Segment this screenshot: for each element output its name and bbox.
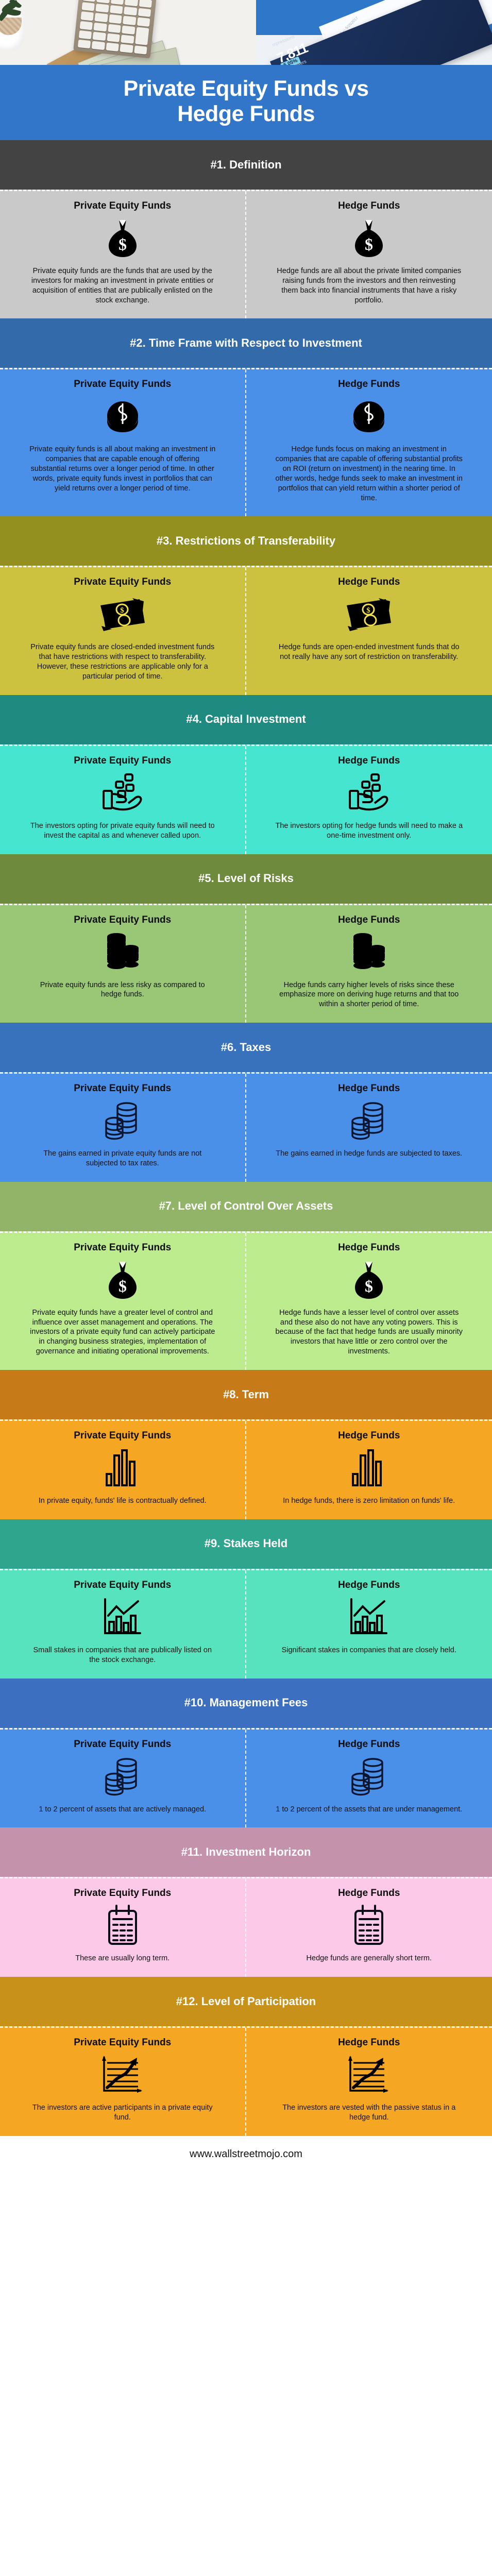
column-title-left: Private Equity Funds bbox=[74, 1580, 171, 1591]
comparison-column-right: Hedge Funds $ Hedge funds are open-ended… bbox=[246, 567, 492, 694]
column-title-right: Hedge Funds bbox=[338, 914, 400, 926]
svg-text:$: $ bbox=[367, 606, 371, 615]
hero-right-photo: 210,000 180,000 150,000 120,000 5/12/201… bbox=[256, 0, 492, 65]
section-header-11: #11. Investment Horizon bbox=[0, 1827, 492, 1877]
section-heading: #2. Time Frame with Respect to Investmen… bbox=[130, 336, 362, 350]
column-title-right: Hedge Funds bbox=[338, 2037, 400, 2048]
calendar-icon bbox=[352, 1904, 385, 1947]
line-bar-chart-axis-icon bbox=[101, 1596, 144, 1639]
calendar-icon bbox=[106, 1904, 139, 1947]
comparison-column-right: Hedge Funds The investors opting for hed… bbox=[246, 746, 492, 854]
column-description-right: The gains earned in hedge funds are subj… bbox=[276, 1149, 462, 1159]
comparison-column-left: Private Equity Funds 1 to 2 percent of a… bbox=[0, 1730, 246, 1828]
section-body-1: Private Equity Funds $ Private equity fu… bbox=[0, 190, 492, 318]
section-heading: #5. Level of Risks bbox=[198, 872, 294, 886]
comparison-column-left: Private Equity Funds Small stakes in com… bbox=[0, 1570, 246, 1679]
section-body-7: Private Equity Funds $ Private equity fu… bbox=[0, 1231, 492, 1370]
section-body-5: Private Equity Funds Private equity fund… bbox=[0, 904, 492, 1023]
column-description-left: The gains earned in private equity funds… bbox=[29, 1149, 216, 1168]
hand-coins-icon bbox=[345, 772, 393, 815]
column-description-right: Hedge funds carry higher levels of risks… bbox=[275, 980, 464, 1010]
comparison-column-right: Hedge Funds $ Hedge funds have a lesser … bbox=[246, 1233, 492, 1370]
footer: www.wallstreetmojo.com bbox=[0, 2136, 492, 2174]
section-header-9: #9. Stakes Held bbox=[0, 1519, 492, 1569]
comparison-column-left: Private Equity Funds The investors optin… bbox=[0, 746, 246, 854]
column-title-right: Hedge Funds bbox=[338, 1083, 400, 1094]
column-description-right: Hedge funds are all about the private li… bbox=[275, 266, 464, 305]
section-body-9: Private Equity Funds Small stakes in com… bbox=[0, 1569, 492, 1679]
section-body-10: Private Equity Funds 1 to 2 percent of a… bbox=[0, 1728, 492, 1828]
column-description-right: Hedge funds are generally short term. bbox=[307, 1954, 432, 1963]
section-header-5: #5. Level of Risks bbox=[0, 854, 492, 904]
column-title-left: Private Equity Funds bbox=[74, 755, 171, 767]
section-header-6: #6. Taxes bbox=[0, 1023, 492, 1072]
column-description-right: The investors opting for hedge funds wil… bbox=[275, 821, 464, 841]
page-title: Private Equity Funds vs Hedge Funds bbox=[15, 76, 477, 127]
comparison-column-left: Private Equity Funds $ Private equity fu… bbox=[0, 1233, 246, 1370]
money-bag-icon: $ bbox=[353, 217, 385, 260]
comparison-column-right: Hedge Funds Significant stakes in compan… bbox=[246, 1570, 492, 1679]
money-bag-icon: $ bbox=[107, 217, 139, 260]
comparison-column-left: Private Equity Funds $ Private equity fu… bbox=[0, 567, 246, 694]
column-title-right: Hedge Funds bbox=[338, 1430, 400, 1442]
section-heading: #9. Stakes Held bbox=[205, 1537, 287, 1551]
column-description-right: In hedge funds, there is zero limitation… bbox=[283, 1496, 455, 1506]
money-bag-icon: $ bbox=[107, 1259, 139, 1302]
svg-text:$: $ bbox=[118, 1277, 127, 1295]
calculator-shape bbox=[73, 0, 157, 59]
section-body-3: Private Equity Funds $ Private equity fu… bbox=[0, 566, 492, 694]
section-heading: #11. Investment Horizon bbox=[181, 1845, 311, 1859]
hero-left-photo bbox=[0, 0, 256, 65]
column-title-left: Private Equity Funds bbox=[74, 577, 171, 588]
column-title-right: Hedge Funds bbox=[338, 379, 400, 390]
section-heading: #7. Level of Control Over Assets bbox=[159, 1199, 333, 1213]
comparison-column-right: Hedge Funds Hedge funds focus on making … bbox=[246, 369, 492, 516]
section-header-4: #4. Capital Investment bbox=[0, 695, 492, 744]
column-title-left: Private Equity Funds bbox=[74, 914, 171, 926]
banknote-icon: $ bbox=[345, 593, 393, 636]
comparison-column-right: Hedge Funds The gains earned in hedge fu… bbox=[246, 1074, 492, 1182]
comparison-column-right: Hedge Funds In hedge funds, there is zer… bbox=[246, 1421, 492, 1519]
section-heading: #4. Capital Investment bbox=[186, 713, 306, 726]
section-heading: #12. Level of Participation bbox=[176, 1995, 316, 2009]
column-description-right: The investors are vested with the passiv… bbox=[275, 2103, 464, 2123]
column-description-left: In private equity, funds' life is contra… bbox=[39, 1496, 207, 1506]
column-title-left: Private Equity Funds bbox=[74, 1242, 171, 1253]
hero-photo-strip: 210,000 180,000 150,000 120,000 5/12/201… bbox=[0, 0, 492, 65]
section-heading: #8. Term bbox=[223, 1388, 269, 1402]
coin-stacks-solid-icon bbox=[103, 931, 142, 974]
section-header-3: #3. Restrictions of Transferability bbox=[0, 516, 492, 566]
comparison-column-left: Private Equity Funds Private equity fund… bbox=[0, 369, 246, 516]
coin-stacks-outline-icon bbox=[101, 1099, 144, 1143]
comparison-column-right: Hedge Funds The investors are vested wit… bbox=[246, 2028, 492, 2136]
column-title-right: Hedge Funds bbox=[338, 1888, 400, 1899]
website-link[interactable]: www.wallstreetmojo.com bbox=[190, 2148, 302, 2160]
bar-chart-outline-icon bbox=[351, 1447, 387, 1490]
section-body-8: Private Equity Funds In private equity, … bbox=[0, 1419, 492, 1519]
section-heading: #6. Taxes bbox=[221, 1041, 271, 1055]
coin-stack-solid-icon bbox=[102, 395, 143, 438]
column-description-left: Private equity funds are less risky as c… bbox=[29, 980, 216, 1000]
column-title-left: Private Equity Funds bbox=[74, 1430, 171, 1442]
comparison-column-left: Private Equity Funds The gains earned in… bbox=[0, 1074, 246, 1182]
comparison-sections: #1. DefinitionPrivate Equity Funds $ Pri… bbox=[0, 140, 492, 2136]
comparison-column-left: Private Equity Funds $ Private equity fu… bbox=[0, 191, 246, 318]
section-header-1: #1. Definition bbox=[0, 140, 492, 190]
column-title-left: Private Equity Funds bbox=[74, 2037, 171, 2048]
section-heading: #1. Definition bbox=[210, 158, 281, 172]
column-description-right: Hedge funds are open-ended investment fu… bbox=[275, 642, 464, 662]
section-body-2: Private Equity Funds Private equity fund… bbox=[0, 368, 492, 516]
column-description-left: These are usually long term. bbox=[75, 1954, 169, 1963]
coin-stack-solid-icon bbox=[348, 395, 389, 438]
comparison-column-left: Private Equity Funds These are usually l… bbox=[0, 1878, 246, 1977]
column-title-left: Private Equity Funds bbox=[74, 379, 171, 390]
money-bag-icon: $ bbox=[353, 1259, 385, 1302]
column-description-left: The investors are active participants in… bbox=[29, 2103, 216, 2123]
section-body-11: Private Equity Funds These are usually l… bbox=[0, 1877, 492, 1977]
column-description-left: Private equity funds are closed-ended in… bbox=[29, 642, 216, 681]
column-description-left: Private equity funds have a greater leve… bbox=[29, 1308, 216, 1357]
column-description-right: Hedge funds have a lesser level of contr… bbox=[275, 1308, 464, 1357]
comparison-column-right: Hedge Funds $ Hedge funds are all about … bbox=[246, 191, 492, 318]
comparison-column-right: Hedge Funds Hedge funds are generally sh… bbox=[246, 1878, 492, 1977]
hand-coins-icon bbox=[98, 772, 147, 815]
coin-stacks-solid-icon bbox=[349, 931, 388, 974]
column-title-right: Hedge Funds bbox=[338, 577, 400, 588]
coin-stacks-outline-icon bbox=[101, 1755, 144, 1799]
section-header-12: #12. Level of Participation bbox=[0, 1977, 492, 2026]
section-header-7: #7. Level of Control Over Assets bbox=[0, 1182, 492, 1231]
banknote-icon: $ bbox=[98, 593, 147, 636]
section-header-8: #8. Term bbox=[0, 1370, 492, 1419]
column-description-left: Private equity funds is all about making… bbox=[29, 445, 216, 493]
column-title-left: Private Equity Funds bbox=[74, 1888, 171, 1899]
column-description-right: Hedge funds focus on making an investmen… bbox=[275, 445, 464, 503]
section-heading: #10. Management Fees bbox=[184, 1696, 308, 1710]
column-title-left: Private Equity Funds bbox=[74, 1083, 171, 1094]
column-title-left: Private Equity Funds bbox=[74, 1739, 171, 1750]
section-body-6: Private Equity Funds The gains earned in… bbox=[0, 1072, 492, 1182]
bar-chart-outline-icon bbox=[105, 1447, 141, 1490]
comparison-column-left: Private Equity Funds Private equity fund… bbox=[0, 905, 246, 1023]
svg-text:$: $ bbox=[365, 1277, 373, 1295]
section-heading: #3. Restrictions of Transferability bbox=[157, 534, 335, 548]
growth-arrow-chart-icon bbox=[100, 2054, 145, 2097]
section-body-12: Private Equity Funds The investors are a… bbox=[0, 2026, 492, 2136]
column-title-right: Hedge Funds bbox=[338, 1242, 400, 1253]
section-body-4: Private Equity Funds The investors optin… bbox=[0, 744, 492, 854]
column-title-right: Hedge Funds bbox=[338, 755, 400, 767]
growth-arrow-chart-icon bbox=[346, 2054, 392, 2097]
column-description-right: 1 to 2 percent of the assets that are un… bbox=[276, 1805, 462, 1815]
infographic-root: 210,000 180,000 150,000 120,000 5/12/201… bbox=[0, 0, 492, 2174]
column-title-right: Hedge Funds bbox=[338, 1739, 400, 1750]
svg-text:$: $ bbox=[120, 606, 124, 615]
column-title-left: Private Equity Funds bbox=[74, 200, 171, 212]
column-description-left: 1 to 2 percent of assets that are active… bbox=[39, 1805, 206, 1815]
comparison-column-left: Private Equity Funds In private equity, … bbox=[0, 1421, 246, 1519]
column-description-left: Private equity funds are the funds that … bbox=[29, 266, 216, 305]
comparison-column-right: Hedge Funds Hedge funds carry higher lev… bbox=[246, 905, 492, 1023]
page-title-band: Private Equity Funds vs Hedge Funds bbox=[0, 65, 492, 140]
column-description-left: The investors opting for private equity … bbox=[29, 821, 216, 841]
column-title-right: Hedge Funds bbox=[338, 200, 400, 212]
section-header-2: #2. Time Frame with Respect to Investmen… bbox=[0, 318, 492, 368]
page-title-line1: Private Equity Funds vs bbox=[124, 76, 369, 101]
coin-stacks-outline-icon bbox=[347, 1755, 391, 1799]
column-description-left: Small stakes in companies that are publi… bbox=[29, 1646, 216, 1665]
column-description-right: Significant stakes in companies that are… bbox=[282, 1646, 456, 1655]
section-header-10: #10. Management Fees bbox=[0, 1679, 492, 1728]
line-bar-chart-axis-icon bbox=[347, 1596, 391, 1639]
coin-stacks-outline-icon bbox=[347, 1099, 391, 1143]
comparison-column-left: Private Equity Funds The investors are a… bbox=[0, 2028, 246, 2136]
column-title-right: Hedge Funds bbox=[338, 1580, 400, 1591]
svg-text:$: $ bbox=[118, 235, 127, 253]
page-title-line2: Hedge Funds bbox=[177, 101, 315, 126]
svg-text:$: $ bbox=[365, 235, 373, 253]
comparison-column-right: Hedge Funds 1 to 2 percent of the assets… bbox=[246, 1730, 492, 1828]
